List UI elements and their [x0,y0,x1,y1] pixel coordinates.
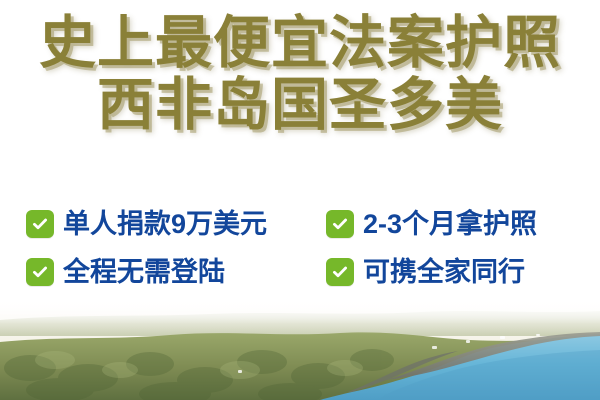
headline-line-2: 西非岛国圣多美 [0,76,600,134]
feature-item-timeline: 2-3个月拿护照 [326,200,582,248]
feature-label: 2-3个月拿护照 [363,211,537,238]
passport-promo-poster: 史上最便宜法案护照 西非岛国圣多美 单人捐款9万美元 2-3个月拿护照 全程无需… [0,0,600,400]
feature-item-no-landing: 全程无需登陆 [26,248,326,296]
check-icon [26,210,54,238]
feature-list: 单人捐款9万美元 2-3个月拿护照 全程无需登陆 可携全家同行 [26,200,582,296]
feature-item-donation: 单人捐款9万美元 [26,200,326,248]
coastline-photo [0,290,600,400]
feature-label: 可携全家同行 [363,259,525,286]
headline-line-1: 史上最便宜法案护照 [0,14,600,72]
feature-item-family: 可携全家同行 [326,248,582,296]
check-icon [26,258,54,286]
coastline-illustration [0,290,600,400]
feature-label: 全程无需登陆 [63,259,225,286]
feature-label: 单人捐款9万美元 [63,211,267,238]
check-icon [326,258,354,286]
page-title: 史上最便宜法案护照 西非岛国圣多美 [0,14,600,134]
check-icon [326,210,354,238]
